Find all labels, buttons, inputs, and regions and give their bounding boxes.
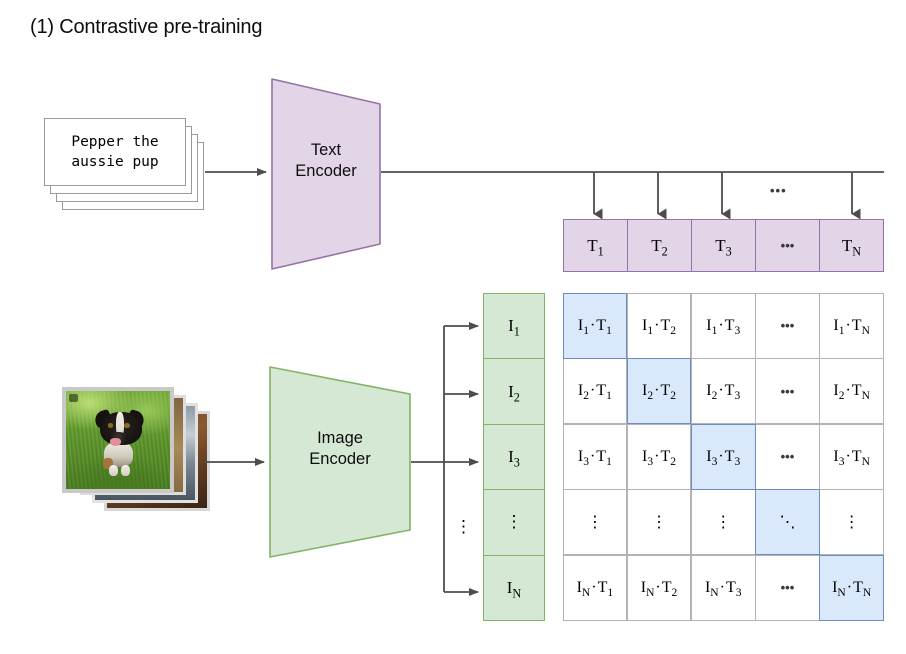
matrix-cell-r3-c2-i-label: I3	[642, 448, 653, 466]
matrix-cell-r1-c2[interactable]: I1·T2	[627, 293, 692, 359]
matrix-cell-r2-c3-t-label: T3	[725, 382, 741, 400]
matrix-cell-r1-c1-t-subscript: 1	[606, 325, 612, 337]
matrix-cell-r5-c1-i-label: IN	[577, 579, 591, 597]
image-embedding-cell-5-label: IN	[507, 578, 522, 598]
matrix-cell-r1-c5-t-label: TN	[852, 317, 870, 335]
matrix-cell-r1-c3-dot-operator: ·	[717, 317, 724, 335]
matrix-cell-r1-c3-t-label: T3	[725, 317, 741, 335]
dog-tongue	[110, 438, 121, 446]
dog-paw-left	[109, 465, 118, 476]
matrix-cell-r5-c3-i-subscript: N	[710, 587, 718, 599]
matrix-cell-r3-c1-i-label: I3	[578, 448, 589, 466]
text-embedding-row: T1T2T3•••TN	[563, 219, 884, 272]
text-embedding-cell-4[interactable]: •••	[755, 219, 820, 272]
similarity-matrix: I1·T1I1·T2I1·T3•••I1·TNI2·T1I2·T2I2·T3••…	[563, 293, 884, 621]
text-embedding-cell-5-subscript: N	[852, 244, 861, 258]
matrix-cell-r2-c3[interactable]: I2·T3	[691, 358, 756, 424]
text-embedding-cell-1-subscript: 1	[598, 244, 604, 258]
matrix-cell-r2-c5-t-label: TN	[852, 382, 870, 400]
matrix-cell-r2-c5-dot-operator: ·	[844, 382, 851, 400]
matrix-cell-r1-c1-t-label: T1	[596, 317, 612, 335]
image-embedding-cell-5-subscript: N	[512, 586, 521, 600]
matrix-cell-r2-c1-t-label: T1	[596, 382, 612, 400]
matrix-cell-r3-c1-t-subscript: 1	[606, 456, 612, 468]
matrix-cell-r3-c1-dot-operator: ·	[589, 448, 596, 466]
matrix-cell-r2-c2[interactable]: I2·T2	[627, 358, 692, 424]
matrix-cell-r1-c3-t-subscript: 3	[734, 325, 740, 337]
text-embedding-cell-5-label: TN	[842, 236, 861, 256]
matrix-cell-r3-c5-i-label: I3	[833, 448, 844, 466]
matrix-cell-r4-c4[interactable]: ⋱	[755, 489, 820, 555]
matrix-cell-r2-c3-t-subscript: 3	[734, 390, 740, 402]
matrix-cell-r4-c5[interactable]: ⋮	[819, 489, 884, 555]
matrix-cell-r3-c1-t-label: T1	[596, 448, 612, 466]
matrix-cell-r5-c5-t-label: TN	[853, 579, 871, 597]
image-embedding-cell-4[interactable]: ⋮	[483, 489, 545, 555]
image-photo-stack	[62, 387, 212, 517]
matrix-cell-r3-c2-t-subscript: 2	[670, 456, 676, 468]
matrix-cell-r5-c5-i-subscript: N	[837, 587, 845, 599]
text-embedding-cell-1[interactable]: T1	[563, 219, 628, 272]
matrix-cell-r2-c4[interactable]: •••	[755, 358, 820, 424]
image-encoder-svg	[269, 366, 411, 558]
text-embedding-cell-1-label: T1	[587, 236, 604, 256]
matrix-cell-r5-c2-t-label: T2	[662, 579, 678, 597]
matrix-cell-r5-c5-dot-operator: ·	[846, 579, 853, 597]
matrix-cell-r5-c3[interactable]: IN·T3	[691, 555, 756, 621]
image-embedding-cell-5[interactable]: IN	[483, 555, 545, 621]
matrix-cell-r5-c3-dot-operator: ·	[719, 579, 726, 597]
matrix-cell-r2-c3-dot-operator: ·	[717, 382, 724, 400]
matrix-cell-r5-c5-i-label: IN	[832, 579, 846, 597]
matrix-cell-r3-c5[interactable]: I3·TN	[819, 424, 884, 490]
text-encoder-shape[interactable]: Text Encoder	[271, 78, 381, 270]
matrix-cell-r1-c5-i-label: I1	[833, 317, 844, 335]
matrix-cell-r1-c5-dot-operator: ·	[844, 317, 851, 335]
text-embedding-cell-2-subscript: 2	[662, 244, 668, 258]
text-caption-stack: Pepper the aussie pup	[44, 118, 204, 218]
wire-text-encoder-to-t-row	[381, 172, 884, 214]
text-bus-ellipsis: •••	[770, 183, 787, 198]
matrix-cell-r1-c5[interactable]: I1·TN	[819, 293, 884, 359]
text-encoder-svg	[271, 78, 381, 270]
image-encoder-shape[interactable]: Image Encoder	[269, 366, 411, 558]
matrix-cell-r2-c1-i-label: I2	[578, 382, 589, 400]
image-embedding-cell-1[interactable]: I1	[483, 293, 545, 359]
matrix-cell-r5-c1[interactable]: IN·T1	[563, 555, 628, 621]
caption-card-front[interactable]: Pepper the aussie pup	[44, 118, 186, 186]
matrix-cell-r2-c2-dot-operator: ·	[653, 382, 660, 400]
matrix-cell-r5-c1-i-subscript: N	[582, 587, 590, 599]
matrix-cell-r1-c4[interactable]: •••	[755, 293, 820, 359]
matrix-cell-r1-c3-i-label: I1	[706, 317, 717, 335]
matrix-cell-r3-c5-dot-operator: ·	[844, 448, 851, 466]
matrix-cell-r1-c2-t-label: T2	[660, 317, 676, 335]
matrix-cell-r5-c5[interactable]: IN·TN	[819, 555, 884, 621]
matrix-cell-r2-c2-i-label: I2	[642, 382, 653, 400]
text-embedding-cell-5[interactable]: TN	[819, 219, 884, 272]
dog-eye-left	[108, 423, 114, 427]
matrix-cell-r1-c3[interactable]: I1·T3	[691, 293, 756, 359]
photo-card-front[interactable]	[62, 387, 174, 493]
matrix-cell-r5-c2-i-subscript: N	[646, 587, 654, 599]
matrix-cell-r1-c1-i-label: I1	[578, 317, 589, 335]
matrix-cell-r2-c5[interactable]: I2·TN	[819, 358, 884, 424]
matrix-cell-r1-c2-i-label: I1	[642, 317, 653, 335]
caption-text: Pepper the aussie pup	[71, 132, 158, 172]
matrix-cell-r4-c3[interactable]: ⋮	[691, 489, 756, 555]
image-embedding-cell-2-label: I2	[508, 382, 520, 402]
image-embedding-cell-3[interactable]: I3	[483, 424, 545, 490]
matrix-cell-r5-c3-i-label: IN	[705, 579, 719, 597]
text-embedding-cell-2-label: T2	[651, 236, 668, 256]
matrix-cell-r4-c2[interactable]: ⋮	[627, 489, 692, 555]
image-embedding-cell-2-subscript: 2	[514, 390, 520, 404]
matrix-cell-r1-c2-dot-operator: ·	[653, 317, 660, 335]
matrix-cell-r3-c3-t-label: T3	[725, 448, 741, 466]
matrix-cell-r3-c5-t-label: TN	[852, 448, 870, 466]
matrix-cell-r5-c2-dot-operator: ·	[654, 579, 661, 597]
image-embedding-cell-2[interactable]: I2	[483, 358, 545, 424]
matrix-cell-r5-c1-t-subscript: 1	[607, 587, 613, 599]
diagram-canvas: (1) Contrastive pre-training Pepper the …	[0, 0, 906, 654]
matrix-cell-r1-c1-dot-operator: ·	[589, 317, 596, 335]
matrix-cell-r5-c4[interactable]: •••	[755, 555, 820, 621]
matrix-cell-r3-c4[interactable]: •••	[755, 424, 820, 490]
wire-image-encoder-to-i-col	[411, 326, 478, 592]
matrix-cell-r5-c2-t-subscript: 2	[672, 587, 678, 599]
matrix-cell-r3-c3[interactable]: I3·T3	[691, 424, 756, 490]
matrix-cell-r3-c5-t-subscript: N	[862, 456, 870, 468]
matrix-cell-r3-c2[interactable]: I3·T2	[627, 424, 692, 490]
matrix-cell-r3-c2-dot-operator: ·	[653, 448, 660, 466]
matrix-cell-r3-c3-dot-operator: ·	[717, 448, 724, 466]
matrix-cell-r5-c5-t-subscript: N	[863, 587, 871, 599]
matrix-cell-r5-c3-t-label: T3	[726, 579, 742, 597]
image-embedding-column: I1I2I3⋮IN	[483, 293, 545, 621]
matrix-cell-r2-c5-i-label: I2	[833, 382, 844, 400]
matrix-cell-r2-c2-t-label: T2	[660, 382, 676, 400]
text-embedding-cell-3-label: T3	[715, 236, 732, 256]
matrix-cell-r3-c2-t-label: T2	[660, 448, 676, 466]
image-embedding-cell-3-subscript: 3	[514, 455, 520, 469]
photo-corner-mark	[69, 394, 78, 402]
matrix-cell-r2-c1-dot-operator: ·	[589, 382, 596, 400]
matrix-cell-r2-c1[interactable]: I2·T1	[563, 358, 628, 424]
page-title: (1) Contrastive pre-training	[30, 14, 262, 40]
matrix-cell-r5-c1-dot-operator: ·	[590, 579, 597, 597]
text-embedding-cell-3[interactable]: T3	[691, 219, 756, 272]
text-embedding-cell-3-subscript: 3	[726, 244, 732, 258]
matrix-cell-r3-c1[interactable]: I3·T1	[563, 424, 628, 490]
matrix-cell-r2-c3-i-label: I2	[706, 382, 717, 400]
image-embedding-cell-3-label: I3	[508, 447, 520, 467]
matrix-cell-r1-c2-t-subscript: 2	[670, 325, 676, 337]
dog-eye-right	[124, 423, 130, 427]
image-bus-ellipsis: ⋮	[455, 518, 472, 535]
matrix-cell-r4-c1[interactable]: ⋮	[563, 489, 628, 555]
matrix-cell-r5-c1-t-label: T1	[598, 579, 614, 597]
text-embedding-cell-2[interactable]: T2	[627, 219, 692, 272]
image-embedding-cell-1-label: I1	[508, 316, 520, 336]
matrix-cell-r5-c2[interactable]: IN·T2	[627, 555, 692, 621]
matrix-cell-r2-c2-t-subscript: 2	[670, 390, 676, 402]
matrix-cell-r2-c5-t-subscript: N	[862, 390, 870, 402]
matrix-cell-r1-c5-t-subscript: N	[862, 325, 870, 337]
matrix-cell-r3-c3-t-subscript: 3	[734, 456, 740, 468]
image-embedding-cell-1-subscript: 1	[514, 325, 520, 339]
matrix-cell-r5-c3-t-subscript: 3	[736, 587, 742, 599]
matrix-cell-r1-c1[interactable]: I1·T1	[563, 293, 628, 359]
matrix-cell-r5-c2-i-label: IN	[641, 579, 655, 597]
matrix-cell-r2-c1-t-subscript: 1	[606, 390, 612, 402]
matrix-cell-r3-c3-i-label: I3	[706, 448, 717, 466]
